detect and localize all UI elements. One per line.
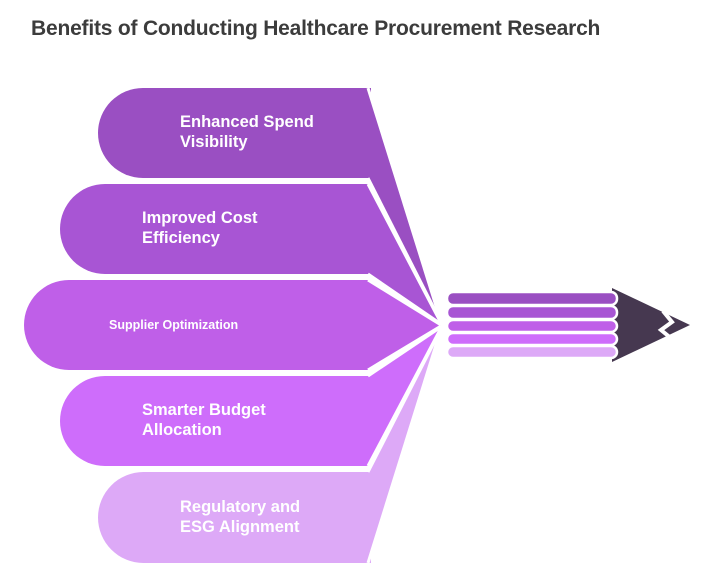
infographic-root: Benefits of Conducting Healthcare Procur… — [0, 0, 714, 571]
stripe-enhanced-spend-visibility — [447, 292, 617, 305]
stripe-improved-cost-efficiency — [447, 306, 617, 319]
stripe-supplier-optimization — [447, 320, 617, 332]
bar-improved-cost-efficiency[interactable] — [60, 184, 371, 274]
pencil-funnel-graphic — [0, 0, 714, 571]
stripe-smarter-budget-allocation — [447, 333, 617, 345]
converging-wedges — [368, 88, 441, 563]
pencil-body-stripes — [447, 292, 617, 358]
benefit-bars — [24, 88, 371, 563]
pencil-tip-triangle — [612, 288, 690, 362]
bar-supplier-optimization[interactable] — [24, 280, 371, 370]
pencil-tip — [612, 288, 690, 362]
stripe-regulatory-esg-alignment — [447, 346, 617, 358]
bar-smarter-budget-allocation[interactable] — [60, 376, 371, 466]
bar-enhanced-spend-visibility[interactable] — [98, 88, 371, 178]
bar-regulatory-esg-alignment[interactable] — [98, 472, 371, 563]
